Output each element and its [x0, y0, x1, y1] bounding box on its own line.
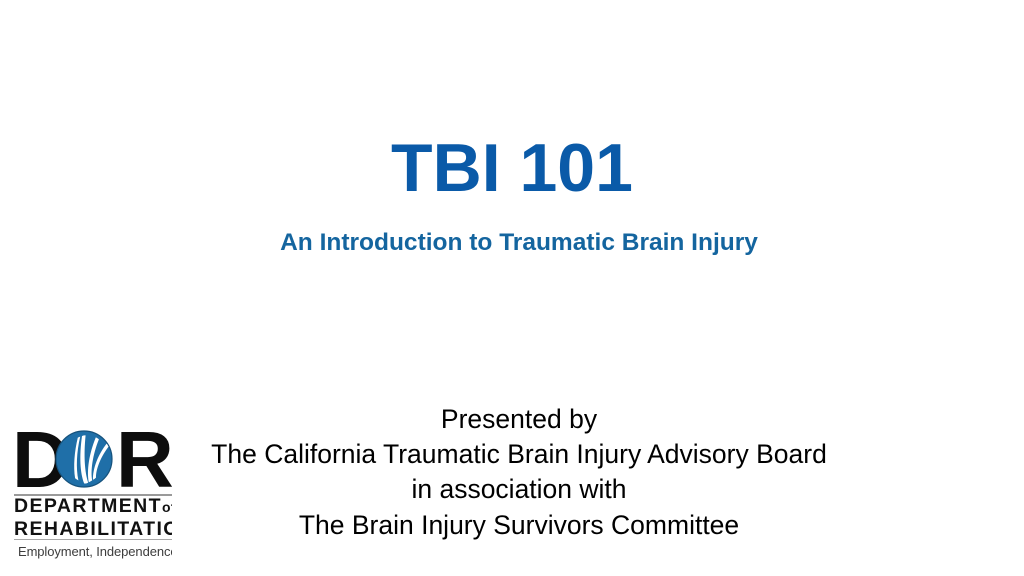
presentation-slide: TBI 101 An Introduction to Traumatic Bra…: [0, 0, 1024, 576]
logo-divider-bottom: [14, 539, 172, 540]
globe-icon: [55, 430, 113, 488]
logo-department-of: of: [162, 499, 172, 515]
dor-logo: D R DEPARTMENTof REHABILITATION: [12, 426, 172, 576]
title-block: TBI 101: [0, 132, 1024, 204]
dor-wordmark: D R: [12, 426, 172, 494]
logo-tagline: Employment, Independence & Equality: [18, 543, 172, 560]
logo-department-line1: DEPARTMENT: [14, 495, 162, 517]
logo-letter-r: R: [116, 426, 172, 500]
logo-department-text: DEPARTMENTof REHABILITATION: [14, 496, 172, 540]
logo-department-line2: REHABILITATION: [14, 518, 172, 540]
page-title: TBI 101: [0, 132, 1024, 204]
page-subtitle: An Introduction to Traumatic Brain Injur…: [0, 228, 1024, 258]
